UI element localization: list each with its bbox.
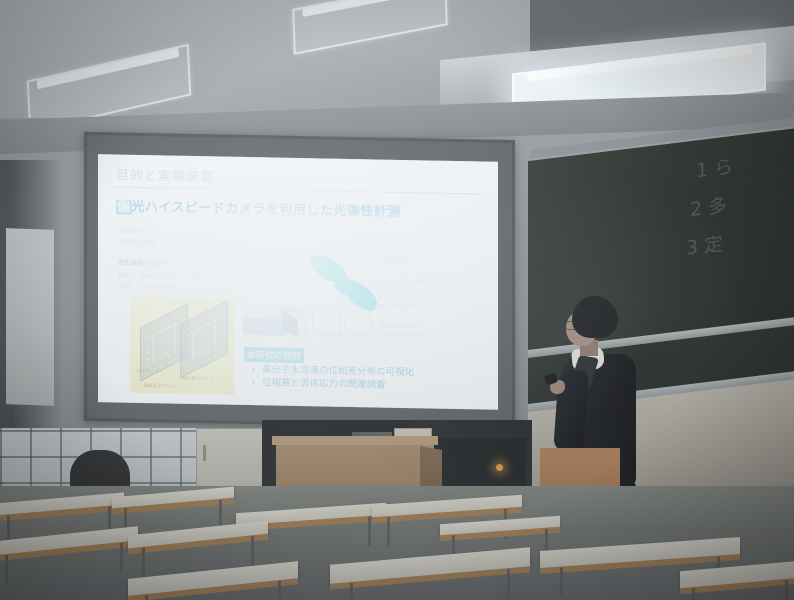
slide-note-3: Polarizer	[384, 256, 412, 266]
slide-heading: 偏光ハイスピードカメラを利用した光弾性計測	[116, 195, 401, 219]
slide-title: 目的と実験装置	[116, 164, 214, 185]
sketch-diagram-2	[312, 308, 340, 335]
desk-leg	[692, 588, 695, 600]
wall-light-panel	[6, 228, 54, 406]
desk-leg	[278, 581, 281, 600]
desk-leg	[387, 517, 390, 547]
desk-leg	[560, 567, 563, 597]
lectern-top-lip	[272, 436, 438, 445]
street-lamp-light	[496, 464, 503, 471]
slide-body-line-1: 実験流体 ‥‥‥‥‥‥‥‥‥‥‥‥‥	[118, 227, 202, 238]
cabinet-handle	[203, 445, 206, 461]
chalk-line-3: 3 定	[686, 229, 723, 261]
inset-caption-1: ポラライザ	[136, 369, 159, 375]
slide-note-2: 1000 fps	[370, 211, 398, 221]
slide-title-rule	[114, 186, 482, 194]
chalk-line-1: 1 ら	[696, 152, 733, 184]
desk-leg	[785, 580, 788, 600]
slide-body-line-5: 照明 ‥ 白色LED光源 ‥‥‥‥	[118, 283, 198, 294]
chalk-line-2: 2 多	[690, 191, 727, 223]
purpose-title: 本研究の目的	[244, 347, 304, 363]
purpose-item-2: 位相差と流体応力の関連調査	[262, 376, 414, 392]
desk-leg	[142, 548, 145, 578]
desk-leg	[145, 595, 148, 600]
purpose-list: 高分子水溶液の位相差分布の可視化 位相差と流体応力の関連調査	[248, 363, 414, 392]
slide-body-line-4: 撮影 ‥ 偏光ハイスピードカメラ ‥‥‥	[118, 272, 226, 283]
inset-caption-3: 撮像素子アレイ	[144, 383, 176, 390]
propeller-diagram	[306, 256, 382, 313]
slide-heading-highlight: 偏	[116, 199, 132, 214]
presentation-slide: 目的と実験装置 偏光ハイスピードカメラを利用した光弾性計測 実験流体 ‥‥‥‥‥…	[98, 154, 498, 410]
desk-leg	[507, 569, 510, 599]
fluorescent-tube	[302, 0, 437, 17]
slide-note-8: Flow channel	[380, 330, 423, 340]
slide-body-line-2: 高分子水溶液（ポリアクリルアミド）	[118, 238, 228, 249]
desk-leg	[5, 555, 8, 585]
slide-body-line-3: 撮影装置について	[118, 259, 170, 269]
slide-heading-text: 光ハイスピードカメラを利用した光弾性計測	[132, 200, 401, 220]
desk-leg	[368, 517, 371, 547]
polarizer-array-photo: ポラライザ 偏光素子アレイ 撮像素子アレイ	[130, 297, 234, 395]
desk-leg	[251, 536, 254, 566]
sketch-diagram-1	[274, 310, 306, 334]
classroom-photo-scene: 1 ら 2 多 3 定 目的と実験装置 偏光ハイスピードカメラを利用した光弾性計…	[0, 0, 794, 600]
presenter-hair	[572, 296, 618, 338]
inset-caption-2: 偏光素子アレイ	[182, 376, 214, 383]
desk-leg	[120, 543, 123, 573]
projection-screen-surface: 目的と実験装置 偏光ハイスピードカメラを利用した光弾性計測 実験流体 ‥‥‥‥‥…	[98, 154, 498, 410]
projection-screen-frame: 目的と実験装置 偏光ハイスピードカメラを利用した光弾性計測 実験流体 ‥‥‥‥‥…	[84, 132, 515, 429]
sketch-diagram-3	[344, 309, 372, 336]
desk-leg	[350, 583, 353, 600]
